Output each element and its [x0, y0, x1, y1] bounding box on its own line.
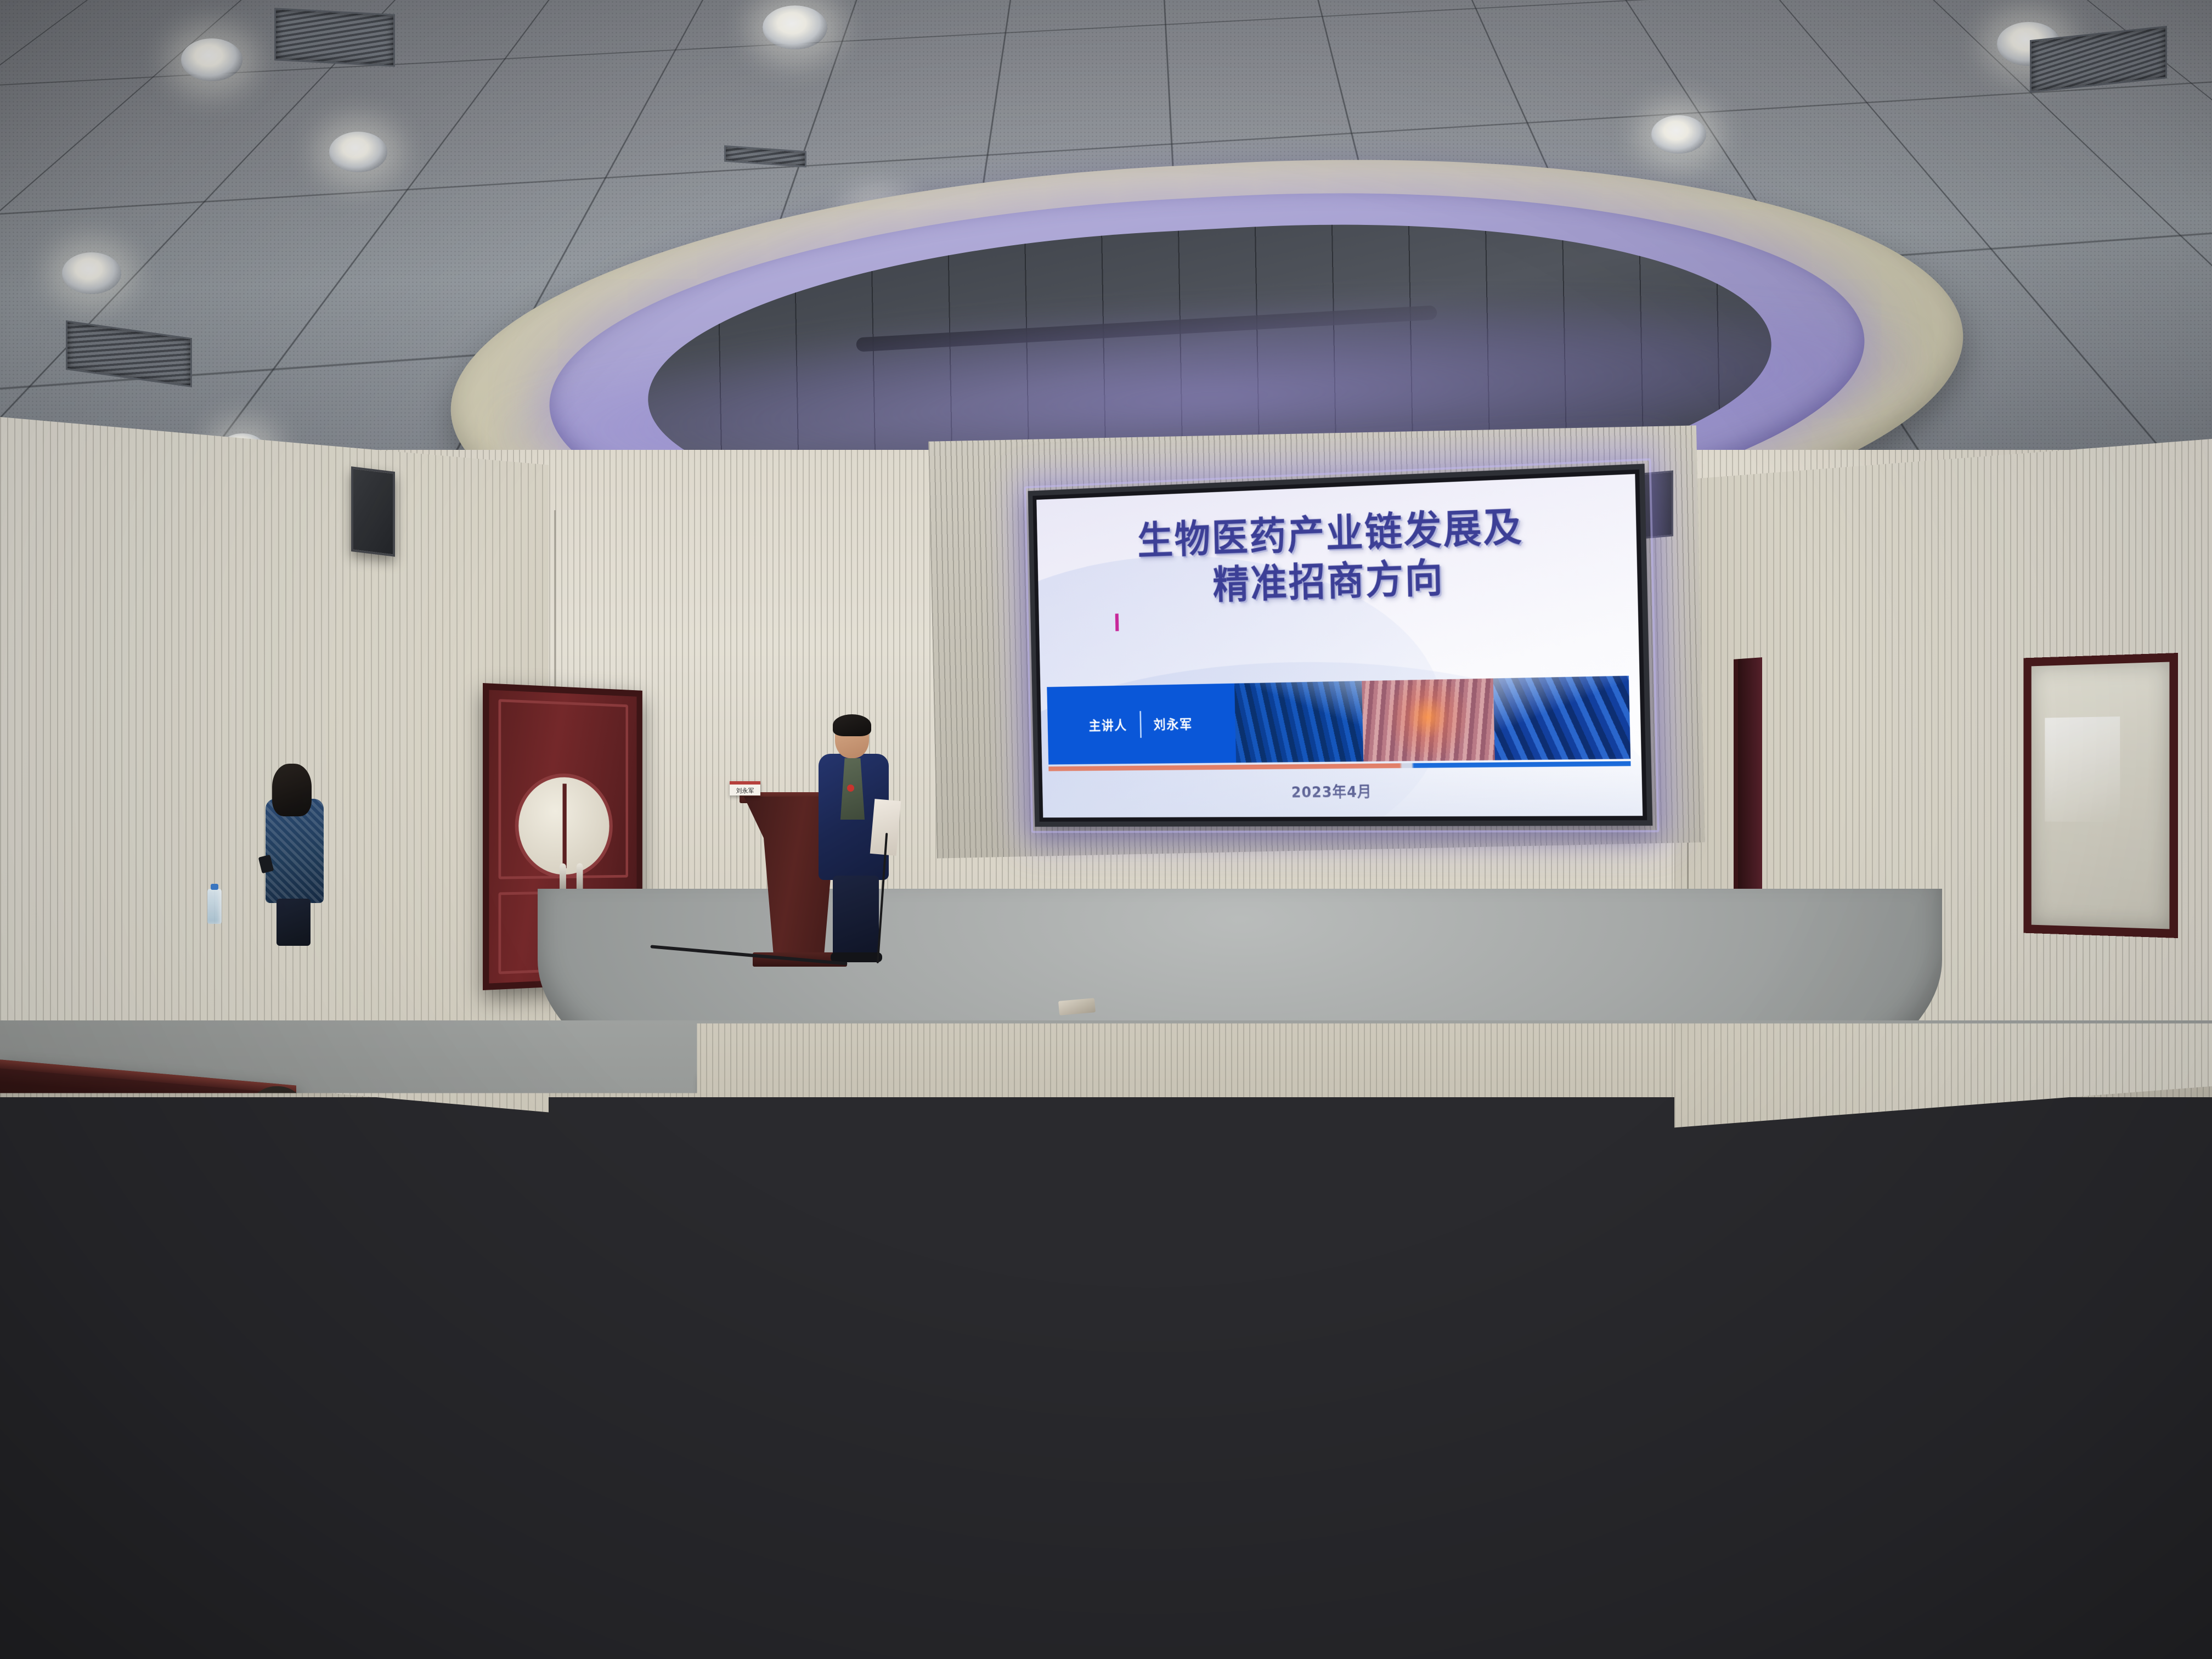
seat-back: [2079, 1339, 2212, 1503]
downlight-icon: [181, 38, 242, 81]
seat-back: [598, 1377, 763, 1536]
slide-accent-tick: [1115, 613, 1119, 631]
open-notebook: [625, 1136, 725, 1173]
slide-title: 生物医药产业链发展及 精准招商方向: [1037, 498, 1638, 614]
audience-member: [351, 1514, 538, 1659]
door-handle[interactable]: [577, 863, 583, 892]
exit-door-right[interactable]: [2023, 653, 2178, 938]
audience-head: [933, 1481, 1042, 1599]
seat-number-tag: 7: [1897, 1221, 1922, 1233]
loudspeaker-icon: [351, 466, 395, 557]
audience-member: [483, 1169, 620, 1355]
audience-torso: [484, 1248, 619, 1358]
downlight-icon: [62, 252, 121, 294]
auditorium-seat[interactable]: [1876, 1350, 2052, 1514]
audience-member: [340, 1344, 488, 1531]
audience-member: [99, 1094, 225, 1259]
audience-head: [245, 1086, 309, 1160]
seat-number-tag: 11: [643, 1259, 668, 1271]
presenter: [811, 718, 899, 959]
handout-paper: [1024, 1250, 1121, 1366]
slide-speaker-divider: [1139, 711, 1142, 738]
audience-member: [214, 1086, 340, 1251]
audience-head: [1238, 1256, 1313, 1342]
audience-head: [340, 1180, 411, 1261]
water-bottle[interactable]: [1344, 1437, 1358, 1480]
table-name-card-label: 余峰海: [709, 1084, 752, 1104]
slide-image-strip: 主讲人 刘永军: [1047, 676, 1630, 765]
audience-member: [0, 1426, 165, 1657]
auditorium-seat[interactable]: [647, 1531, 867, 1659]
audience-member: [1141, 1553, 1317, 1659]
audience-head: [36, 1426, 129, 1531]
seat-number-tag: 10: [879, 1251, 904, 1263]
water-bottle[interactable]: [207, 889, 222, 924]
slide-footer-gradient: [1042, 755, 1643, 817]
audience-head: [393, 1514, 495, 1624]
slide-speaker-label: 主讲人: [1088, 715, 1127, 735]
door-center-mullion: [562, 783, 566, 868]
auditorium-seat[interactable]: 7: [1827, 1180, 1991, 1339]
audience-head: [375, 1344, 453, 1431]
handout-paper: [214, 1540, 319, 1659]
slide-speaker-block: 主讲人 刘永军: [1047, 684, 1236, 765]
audience-member: [889, 1481, 1086, 1659]
water-bottle[interactable]: [1053, 1075, 1068, 1115]
downlight-icon: [1651, 115, 1706, 154]
door-right-recess[interactable]: [1734, 657, 1762, 895]
presenter-trousers: [833, 876, 879, 958]
audience-torso: [1209, 1339, 1343, 1446]
seat-back: [2013, 1163, 2172, 1317]
eyeglasses-icon: [65, 1486, 106, 1498]
audience-head: [129, 1094, 194, 1167]
audience-head: [1157, 1144, 1218, 1212]
slide-speaker-name: 刘永军: [1153, 714, 1193, 733]
audience-head: [897, 1065, 974, 1147]
seat-back: [817, 1215, 966, 1352]
podium-name-card: 刘永军: [730, 781, 760, 795]
audience-head: [1180, 1553, 1278, 1640]
auditorium-seat[interactable]: [1909, 1542, 2096, 1659]
slide-surface: 生物医药产业链发展及 精准招商方向 主讲人 刘永军 2023年4月: [1036, 474, 1643, 817]
auditorium-seat[interactable]: 10: [817, 1215, 966, 1352]
audience-member: [867, 1062, 1004, 1226]
seat-back: [647, 1531, 867, 1659]
seat-number-tag: 10: [926, 1402, 951, 1414]
table-paper: [2153, 1110, 2212, 1136]
attendee-trousers: [276, 899, 311, 946]
door-handle[interactable]: [560, 864, 566, 893]
table-name-card: 余峰海: [699, 1074, 761, 1107]
audience-torso: [101, 1166, 222, 1262]
table-paper: [2068, 1113, 2140, 1141]
eyeglasses-icon: [518, 1209, 548, 1218]
eyeglasses-icon: [417, 1579, 464, 1592]
slide-photo-cityscape-3: [1493, 676, 1631, 760]
seat-number-tag: 10: [1087, 1475, 1113, 1487]
seat-back: [1909, 1542, 2096, 1659]
audience-head: [1237, 1037, 1303, 1111]
standing-attendee: [258, 768, 329, 949]
audience-torso: [217, 1156, 337, 1254]
audience-member: [1207, 1256, 1344, 1437]
downlight-icon: [329, 132, 387, 172]
left-wall: [0, 417, 549, 1112]
seat-back: [1876, 1350, 2052, 1514]
presenter-hair: [833, 714, 871, 736]
slide-photo-cityscape-2: [1362, 679, 1495, 762]
slide-photo-cityscape-1: [1234, 681, 1363, 763]
attendee-hair: [272, 764, 312, 816]
presenter-lapel-badge: [847, 785, 854, 792]
seat-number-tag: 11: [174, 1527, 199, 1539]
auditorium-seat[interactable]: [2079, 1339, 2212, 1503]
audience-torso: [0, 1520, 165, 1657]
seat-back: [1827, 1180, 1991, 1339]
audience-head: [1107, 1234, 1176, 1314]
auditorium-seat[interactable]: [2013, 1163, 2172, 1317]
hvac-vent-icon: [274, 8, 395, 67]
led-presentation-screen: 生物医药产业链发展及 精准招商方向 主讲人 刘永军 2023年4月: [1028, 464, 1653, 827]
auditorium-seat[interactable]: 11: [598, 1377, 763, 1536]
conference-hall-scene: aiaacc.com 生物医药产业链发展及 精准招商方向 主讲人 刘: [0, 0, 2212, 1659]
seat-number-tag: 11: [668, 1418, 693, 1430]
